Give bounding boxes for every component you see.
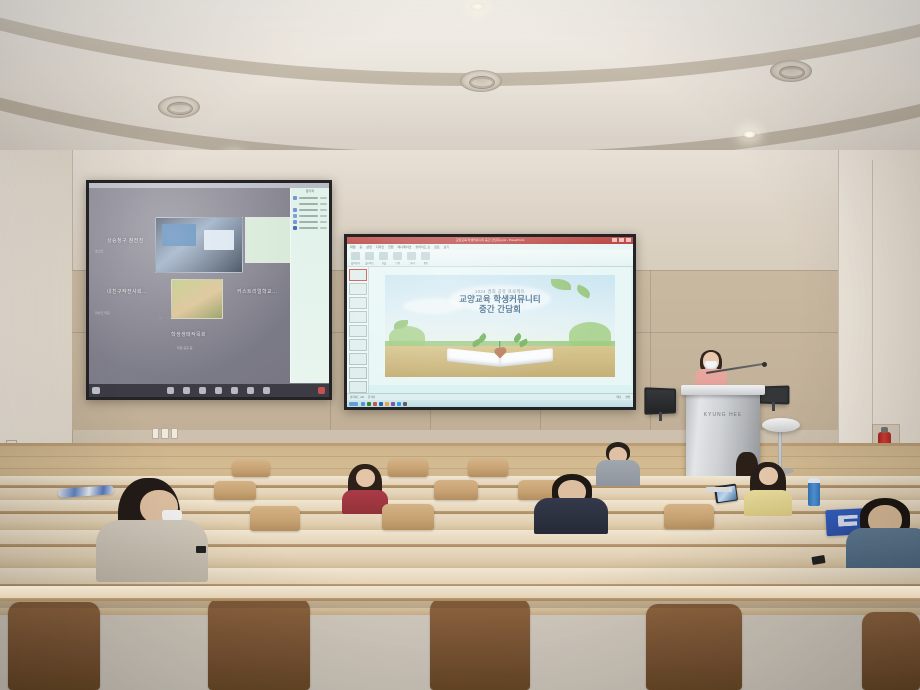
slide-thumbnail[interactable]	[349, 353, 367, 365]
video-tile-name: 내친구작전사회...	[107, 288, 147, 295]
slide-bush	[389, 326, 425, 348]
zoom-security-button[interactable]	[183, 387, 190, 394]
ribbon-group-label: 그리기	[408, 261, 415, 265]
minimize-icon[interactable]	[612, 238, 617, 242]
ribbon-tab[interactable]: 홈	[360, 245, 363, 249]
ribbon-group[interactable]: 슬라이드	[365, 252, 374, 265]
participants-panel-header: 참가자	[291, 189, 329, 193]
ribbon-group-label: 슬라이드	[365, 261, 374, 265]
ribbon-group[interactable]: 편집	[421, 252, 430, 265]
video-tile[interactable]	[171, 279, 223, 319]
participant-row[interactable]	[293, 207, 327, 212]
slide-editing-area[interactable]: 1024 경희 공유 프로젝트 교양교육 학생커뮤니티 중간 간담회	[369, 267, 631, 385]
attendee-navy-suit	[534, 474, 608, 532]
ceiling-vent	[460, 70, 502, 92]
podium-top	[681, 385, 765, 395]
participant-row[interactable]	[293, 201, 327, 206]
ribbon-tab[interactable]: 전환	[388, 245, 394, 249]
ribbon-group-label: 편집	[424, 261, 429, 265]
zoom-share-button[interactable]	[231, 387, 238, 394]
attendee-grey-cardigan	[96, 478, 208, 578]
ribbon-tab[interactable]: 애니메이션	[398, 245, 412, 249]
chair[interactable]	[468, 459, 508, 477]
zoom-reactions-button[interactable]	[263, 387, 270, 394]
video-tile-name: 커스트리얼학교...	[237, 288, 277, 295]
close-icon[interactable]	[626, 238, 631, 242]
ribbon-tab[interactable]: 디자인	[376, 245, 384, 249]
ribbon-tab[interactable]: 삽입	[366, 245, 372, 249]
wall-panel-left	[0, 150, 72, 480]
seating-row-front	[0, 586, 920, 608]
attendee-red-top	[342, 478, 388, 512]
taskbar-icon-app[interactable]	[391, 402, 395, 406]
participant-row[interactable]	[293, 225, 327, 230]
ribbon-tab[interactable]: 검토	[434, 245, 440, 249]
monitor-stand	[772, 402, 775, 411]
powerpoint-status-bar[interactable]: 슬라이드 1/9 한국어 메모 설명	[347, 393, 633, 400]
current-slide[interactable]: 1024 경희 공유 프로젝트 교양교육 학생커뮤니티 중간 간담회	[385, 275, 616, 376]
slide-sprout-illustration	[470, 334, 530, 356]
ribbon-tab[interactable]: 슬라이드 쇼	[415, 245, 430, 249]
smartphone[interactable]	[196, 546, 206, 553]
powerpoint-app[interactable]: 교양교육 학생커뮤니티 중간 간담회.pptx - PowerPoint 파일 …	[347, 237, 633, 407]
lecture-hall-photo: 상승청구 참전진 호스트 내친구작전사회... 마이크 꺼짐 커스트리얼학교..…	[0, 0, 920, 690]
ribbon-group-label: 단락	[396, 261, 401, 265]
video-tile[interactable]	[155, 217, 243, 273]
chair-foreground[interactable]	[646, 604, 742, 690]
video-tile-status: 마이크 꺼짐	[95, 311, 110, 315]
ceiling-downlight	[470, 2, 485, 11]
video-tile-caption: —	[159, 316, 162, 320]
laptop[interactable]	[706, 487, 732, 492]
chair[interactable]	[382, 504, 434, 530]
wall-seam	[872, 160, 873, 460]
slide-thumbnail[interactable]	[349, 283, 367, 295]
chair[interactable]	[232, 460, 270, 477]
taskbar-icon-settings[interactable]	[403, 402, 407, 406]
chair-foreground[interactable]	[208, 598, 310, 690]
slide-title-block[interactable]: 1024 경희 공유 프로젝트 교양교육 학생커뮤니티 중간 간담회	[385, 289, 616, 314]
monitor-stand	[659, 412, 662, 421]
zoom-record-button[interactable]	[247, 387, 254, 394]
slide-thumbnail[interactable]	[349, 339, 367, 351]
ceiling-downlight	[742, 130, 757, 139]
chair-foreground[interactable]	[862, 612, 920, 690]
chair-foreground[interactable]	[8, 602, 100, 690]
slide-thumbnail[interactable]	[349, 297, 367, 309]
powerpoint-title-text: 교양교육 학생커뮤니티 중간 간담회.pptx - PowerPoint	[456, 238, 524, 242]
taskbar-icon-excel[interactable]	[367, 402, 371, 406]
ceiling-vent	[770, 60, 812, 82]
ribbon-tab[interactable]: 보기	[444, 245, 450, 249]
confidence-monitor-left	[644, 387, 676, 414]
participant-row[interactable]	[293, 195, 327, 200]
taskbar-icon-powerpoint[interactable]	[373, 402, 377, 406]
attendee-yellow-cardigan	[744, 476, 792, 514]
ribbon-toolbar[interactable]: 붙여넣기 슬라이드 글꼴 단락 그리기 편집	[347, 250, 633, 267]
slide-thumbnail[interactable]	[349, 381, 367, 393]
projection-screen-left: 상승청구 참전진 호스트 내친구작전사회... 마이크 꺼짐 커스트리얼학교..…	[86, 180, 332, 400]
powerpoint-titlebar: 교양교육 학생커뮤니티 중간 간담회.pptx - PowerPoint	[347, 237, 633, 244]
zoom-chat-button[interactable]	[215, 387, 222, 394]
chair-foreground[interactable]	[430, 598, 530, 690]
slide-counter: 슬라이드 1/9	[350, 395, 364, 399]
taskbar-icon-word[interactable]	[379, 402, 383, 406]
zoom-video-button[interactable]	[167, 387, 174, 394]
ribbon-group-label: 붙여넣기	[351, 261, 360, 265]
video-tile-status: 화면 공유 중	[177, 346, 192, 350]
chair[interactable]	[434, 480, 478, 500]
video-tile-name: 학생생태작목회	[171, 331, 206, 338]
taskbar-icon-explorer[interactable]	[361, 402, 365, 406]
window-controls[interactable]	[612, 238, 631, 242]
podium-logo: KYUNG HEE	[704, 412, 742, 418]
desk-top	[0, 586, 920, 598]
chair[interactable]	[214, 481, 256, 500]
microphone-head	[762, 362, 767, 367]
slide-thumbnail[interactable]	[349, 269, 367, 281]
drink-tumbler[interactable]	[808, 478, 820, 506]
zoom-participants-button[interactable]	[199, 387, 206, 394]
taskbar-icon-zoom[interactable]	[397, 402, 401, 406]
slide-thumbnail-panel[interactable]	[347, 267, 369, 395]
round-stool	[762, 418, 800, 432]
light-switch-panel[interactable]	[152, 428, 178, 439]
ribbon-group[interactable]: 붙여넣기	[351, 252, 360, 265]
slide-title-line2: 중간 간담회	[385, 305, 616, 315]
comments-button[interactable]: 설명	[625, 395, 630, 399]
chair[interactable]	[388, 459, 428, 477]
ribbon-group[interactable]: 단락	[393, 252, 402, 265]
video-tile[interactable]	[245, 217, 291, 263]
zoom-participants-panel[interactable]: 참가자	[290, 188, 329, 383]
windows-taskbar[interactable]	[347, 400, 633, 407]
ceiling-vent	[158, 96, 200, 118]
ribbon-tab[interactable]: 파일	[350, 245, 356, 249]
taskbar-icon-browser[interactable]	[385, 402, 389, 406]
participant-row[interactable]	[293, 219, 327, 224]
stool-leg	[778, 428, 782, 470]
ribbon-group-label: 글꼴	[382, 261, 387, 265]
slide-thumbnail[interactable]	[349, 325, 367, 337]
projection-screen-right: 교양교육 학생커뮤니티 중간 간담회.pptx - PowerPoint 파일 …	[344, 234, 636, 410]
desk-shadow	[0, 601, 920, 608]
attendee-blue-shirt	[846, 498, 920, 576]
wall-seam	[838, 150, 839, 480]
zoom-toolbar[interactable]	[89, 384, 329, 397]
language-indicator[interactable]: 한국어	[368, 395, 375, 399]
video-tile-status: 호스트	[95, 249, 103, 253]
participant-row[interactable]	[293, 213, 327, 218]
ribbon-group[interactable]: 글꼴	[379, 252, 388, 265]
ribbon-group[interactable]: 그리기	[407, 252, 416, 265]
screen-surface: 교양교육 학생커뮤니티 중간 간담회.pptx - PowerPoint 파일 …	[347, 237, 633, 407]
chair[interactable]	[250, 506, 300, 531]
zoom-end-button[interactable]	[318, 387, 325, 394]
notes-button[interactable]: 메모	[616, 395, 621, 399]
video-tile-name: 상승청구 참전진	[107, 237, 144, 244]
zoom-mute-button[interactable]	[92, 387, 100, 394]
slide-bush	[569, 322, 611, 348]
screen-surface: 상승청구 참전진 호스트 내친구작전사회... 마이크 꺼짐 커스트리얼학교..…	[89, 183, 329, 397]
video-conference-app[interactable]: 상승청구 참전진 호스트 내친구작전사회... 마이크 꺼짐 커스트리얼학교..…	[89, 183, 329, 397]
slide-thumbnail[interactable]	[349, 311, 367, 323]
slide-thumbnail[interactable]	[349, 367, 367, 379]
maximize-icon[interactable]	[619, 238, 624, 242]
chair[interactable]	[664, 504, 714, 529]
start-button[interactable]	[349, 402, 358, 406]
